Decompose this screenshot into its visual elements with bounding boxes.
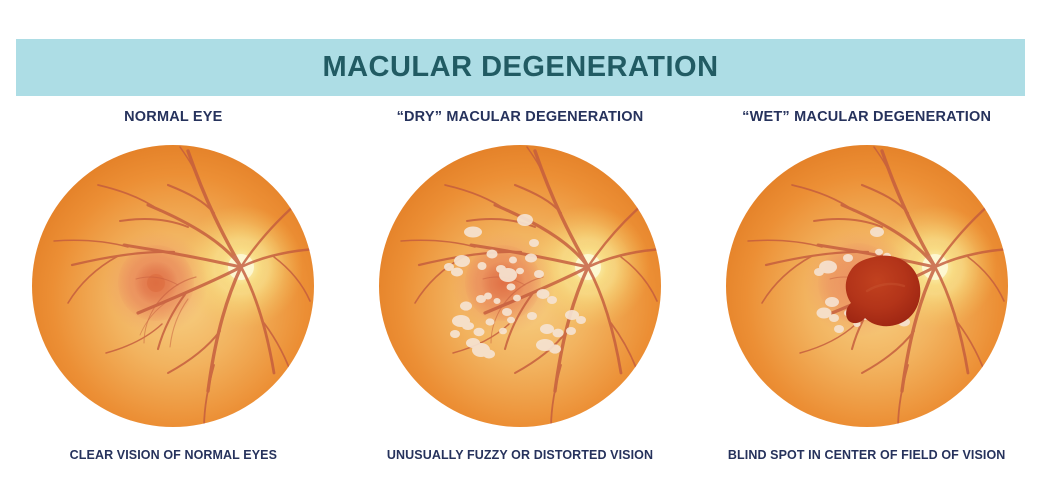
page-title: MACULAR DEGENERATION: [322, 53, 718, 82]
panel-heading-wet: “WET” MACULAR DEGENERATION: [742, 104, 991, 134]
hemorrhage-blind-spot: [845, 256, 920, 327]
panel-heading-dry: “DRY” MACULAR DEGENERATION: [397, 104, 644, 134]
panel-normal-eye: NORMAL EYE: [0, 104, 347, 494]
retina-illustration-normal: [28, 141, 318, 431]
macula: [104, 231, 208, 335]
macular-degeneration-infographic: MACULAR DEGENERATION NORMAL EYE: [0, 0, 1040, 500]
retina-illustration-dry: [375, 141, 665, 431]
panel-heading-normal: NORMAL EYE: [124, 104, 222, 134]
retina-illustration-wet: [722, 141, 1012, 431]
panel-wet-macular-degeneration: “WET” MACULAR DEGENERATION: [693, 104, 1040, 494]
panel-caption-dry: UNUSUALLY FUZZY OR DISTORTED VISION: [387, 448, 653, 462]
title-band: MACULAR DEGENERATION: [16, 39, 1025, 96]
panel-caption-normal: CLEAR VISION OF NORMAL EYES: [70, 448, 277, 462]
panel-row: NORMAL EYE: [0, 104, 1040, 494]
panel-dry-macular-degeneration: “DRY” MACULAR DEGENERATION: [347, 104, 694, 494]
panel-caption-wet: BLIND SPOT IN CENTER OF FIELD OF VISION: [728, 448, 1006, 462]
